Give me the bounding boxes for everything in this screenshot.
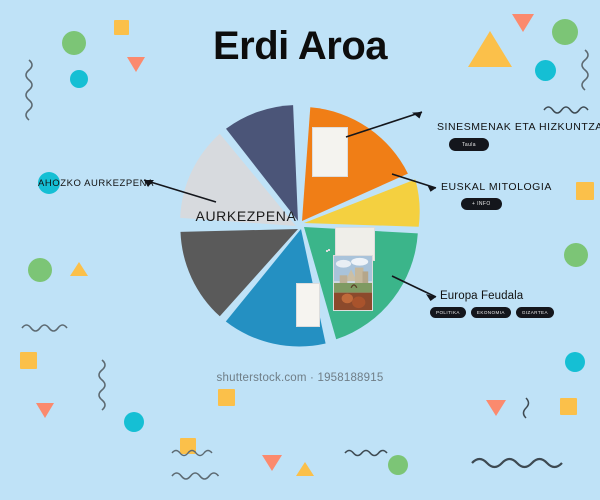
- deco-squiggle-bottom-1: [172, 470, 228, 482]
- deco-circle-green-2: [28, 258, 52, 282]
- callout-beliefs: SINESMENAK ETA HIZKUNTZAK Taula: [437, 121, 600, 151]
- thumbnail-manuscript: [312, 127, 348, 177]
- callout-mythology-buttons: + INFO: [461, 198, 552, 210]
- callout-oral-label: AHOZKO AURKEZPENA: [38, 178, 154, 189]
- deco-square-yellow-4: [560, 398, 577, 415]
- callout-beliefs-buttons: Taula: [449, 138, 600, 151]
- deco-triangle-yellow-2: [296, 462, 314, 476]
- watermark: shutterstock.com · 1958188915: [0, 372, 600, 384]
- deco-square-orange-1: [20, 352, 37, 369]
- deco-squiggle-bottom-2: [172, 448, 216, 458]
- leader-line-beliefs: [346, 110, 438, 138]
- thumbnail-mythology-figure-a: [296, 283, 320, 327]
- deco-squiggle-right-2: [520, 398, 532, 420]
- deco-squiggle-bottom-4: [345, 448, 391, 458]
- callout-feudal-title: Europa Feudala: [440, 290, 554, 302]
- deco-squiggle-top-1: [544, 104, 592, 115]
- deco-squiggle-left-2: [22, 322, 76, 334]
- deco-circle-green-5: [564, 243, 588, 267]
- ekonomia-button[interactable]: EKONOMIA: [471, 307, 511, 318]
- deco-square-yellow-5: [576, 182, 594, 200]
- deco-circle-teal-4: [565, 352, 585, 372]
- callout-oral-overlay: AHOZKO AURKEZPENA: [38, 178, 154, 189]
- deco-square-yellow-3: [180, 438, 196, 454]
- callout-beliefs-title: SINESMENAK ETA HIZKUNTZAK: [437, 121, 600, 133]
- callout-feudal: Europa Feudala POLITIKA EKONOMIA GIZARTE…: [440, 290, 554, 318]
- deco-triangle-yellow-1: [70, 262, 88, 276]
- thumbnail-feudal-scene: [333, 255, 373, 311]
- thumbnail-feudal-castle: [328, 249, 330, 251]
- deco-squiggle-bottom-3: [472, 455, 562, 471]
- callout-feudal-buttons: POLITIKA EKONOMIA GIZARTEA: [430, 307, 554, 318]
- politika-button[interactable]: POLITIKA: [430, 307, 466, 318]
- info-button[interactable]: + INFO: [461, 198, 502, 210]
- deco-squiggle-left-1: [22, 60, 36, 120]
- deco-squiggle-mid-1: [95, 360, 109, 418]
- deco-triangle-salmon-2: [36, 403, 54, 418]
- deco-square-yellow-2: [218, 389, 235, 406]
- deco-circle-teal-2: [124, 412, 144, 432]
- callout-mythology-title: EUSKAL MITOLOGIA: [441, 181, 552, 193]
- deco-circle-teal-1: [70, 70, 88, 88]
- pie-chart: [178, 103, 422, 347]
- gizartea-button[interactable]: GIZARTEA: [516, 307, 554, 318]
- pie-center-label: AURKEZPENA: [182, 208, 310, 224]
- taula-button[interactable]: Taula: [449, 138, 489, 151]
- page-title: Erdi Aroa: [0, 24, 600, 69]
- leader-line-mythology: [392, 172, 448, 196]
- deco-circle-green-3: [388, 455, 408, 475]
- callout-mythology: EUSKAL MITOLOGIA + INFO: [441, 181, 552, 210]
- deco-triangle-salmon-3: [262, 455, 282, 471]
- deco-triangle-salmon-4: [486, 400, 506, 416]
